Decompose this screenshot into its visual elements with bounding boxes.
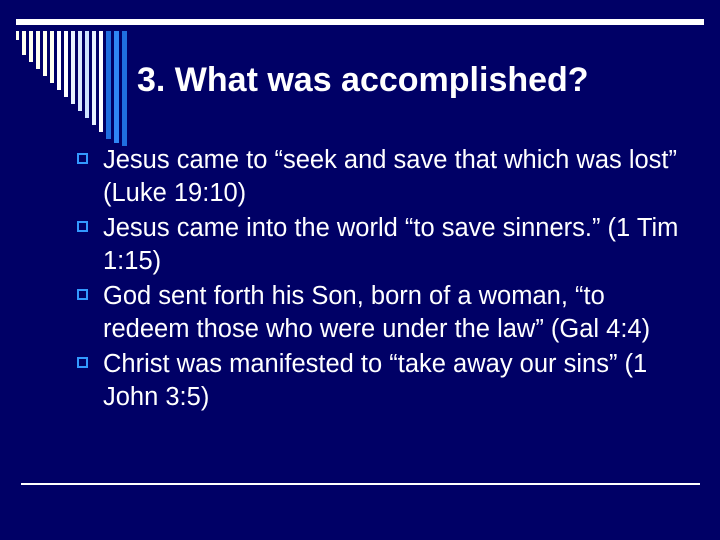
decorative-bar: [43, 31, 47, 76]
decorative-bar: [71, 31, 75, 104]
list-item-text: God sent forth his Son, born of a woman,…: [103, 280, 694, 346]
list-item: Jesus came to “seek and save that which …: [74, 144, 694, 210]
bullet-list: Jesus came to “seek and save that which …: [74, 144, 694, 416]
list-item: Christ was manifested to “take away our …: [74, 348, 694, 414]
hollow-square-icon: [77, 221, 88, 232]
list-item-text: Jesus came to “seek and save that which …: [103, 144, 694, 210]
descending-bar-motif: [16, 31, 136, 146]
decorative-bar: [85, 31, 89, 118]
decorative-bar: [57, 31, 61, 90]
list-item: Jesus came into the world “to save sinne…: [74, 212, 694, 278]
decorative-bar: [16, 31, 19, 40]
slide-title: 3. What was accomplished?: [137, 60, 697, 100]
decorative-bar: [99, 31, 103, 132]
decorative-bar: [22, 31, 26, 55]
decorative-bar: [114, 31, 119, 143]
decorative-bar: [50, 31, 54, 83]
presentation-slide: 3. What was accomplished? Jesus came to …: [0, 0, 720, 540]
list-item: God sent forth his Son, born of a woman,…: [74, 280, 694, 346]
hollow-square-icon: [77, 289, 88, 300]
hollow-square-icon: [77, 153, 88, 164]
bottom-divider-rule: [21, 483, 700, 485]
decorative-bar: [122, 31, 127, 146]
decorative-bar: [106, 31, 111, 139]
decorative-bar: [29, 31, 33, 62]
decorative-bar: [64, 31, 68, 97]
hollow-square-icon: [77, 357, 88, 368]
top-divider-rule: [16, 19, 704, 25]
decorative-bar: [78, 31, 82, 111]
decorative-bar: [92, 31, 96, 125]
decorative-bar: [36, 31, 40, 69]
list-item-text: Jesus came into the world “to save sinne…: [103, 212, 694, 278]
list-item-text: Christ was manifested to “take away our …: [103, 348, 694, 414]
